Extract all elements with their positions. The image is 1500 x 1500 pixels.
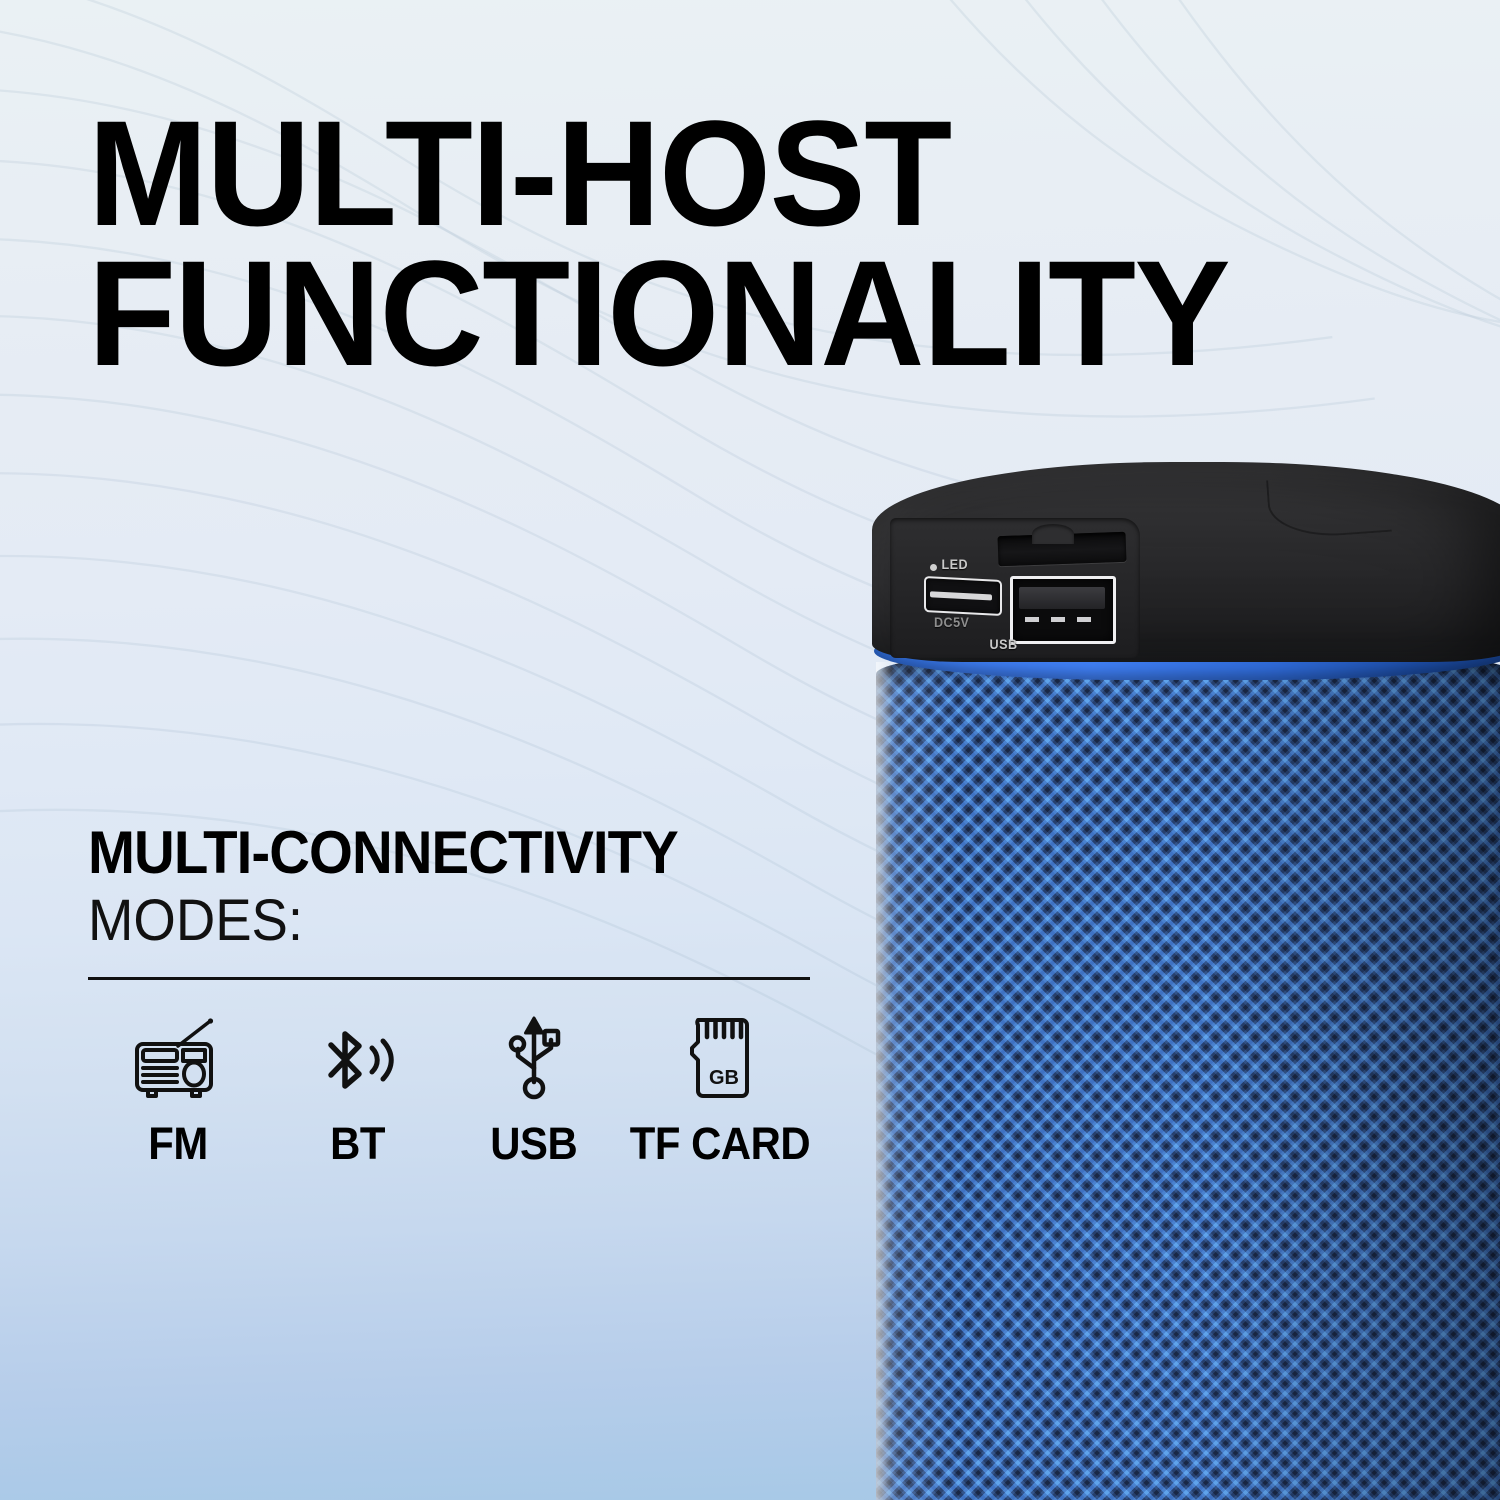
feature-title: MULTI-CONNECTIVITY xyxy=(88,822,774,883)
mode-item-usb: USB xyxy=(446,1014,622,1170)
usb-icon xyxy=(502,1014,566,1102)
divider xyxy=(88,977,810,980)
port-panel: LED DC5V TF USB xyxy=(890,518,1140,658)
speaker-top-housing: LED DC5V TF USB xyxy=(872,462,1500,662)
sd-card-gb-text: GB xyxy=(709,1067,739,1089)
speaker-mesh-grille xyxy=(876,648,1500,1500)
mode-item-fm: FM xyxy=(88,1014,268,1170)
radio-icon xyxy=(131,1014,225,1102)
mode-item-bt: BT xyxy=(268,1014,446,1170)
mode-label-usb: USB xyxy=(491,1118,578,1170)
led-port-label: LED xyxy=(941,556,968,572)
housing-seam xyxy=(1266,472,1392,540)
usb-a-port xyxy=(1010,576,1116,644)
usb-port-label: USB xyxy=(990,636,1018,652)
feature-block: MULTI-CONNECTIVITY MODES: xyxy=(88,822,818,1170)
product-image-speaker: LED DC5V TF USB xyxy=(866,452,1500,1500)
sd-card-icon: GB xyxy=(684,1014,756,1102)
feature-subtitle: MODES: xyxy=(88,889,774,953)
page-title: MULTI-HOSTFUNCTIONALITY xyxy=(88,104,1413,383)
micro-usb-dc-port xyxy=(924,576,1002,616)
mode-item-tf-card: GB TF CARD xyxy=(622,1014,818,1170)
mode-label-fm: FM xyxy=(148,1118,208,1170)
mode-label-bt: BT xyxy=(330,1118,385,1170)
product-feature-banner: MULTI-HOSTFUNCTIONALITY LED DC5V TF USB … xyxy=(0,0,1500,1500)
led-indicator-dot xyxy=(930,564,937,571)
bluetooth-icon xyxy=(319,1014,395,1102)
mode-label-tf-card: TF CARD xyxy=(630,1118,810,1170)
tf-slot-bump xyxy=(1032,524,1074,544)
headline-line-2: FUNCTIONALITY xyxy=(88,229,1229,397)
connectivity-modes-row: FM BT xyxy=(88,1014,818,1170)
dc-port-label: DC5V xyxy=(934,614,969,630)
